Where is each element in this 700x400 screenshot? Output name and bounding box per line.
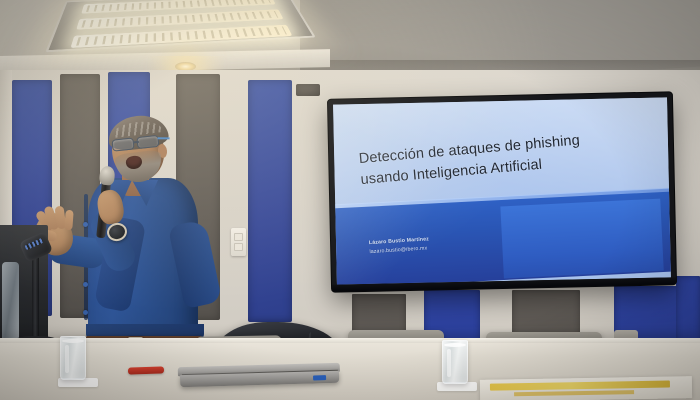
water-glass-left[interactable] [60,336,86,380]
presenter [40,118,220,368]
red-marker[interactable] [128,366,164,374]
finger-4 [64,210,73,231]
conference-room-photo: Detección de ataques de phishing usando … [0,0,700,400]
microphone-head [99,165,116,185]
wall-television[interactable]: Detección de ataques de phishing usando … [328,92,676,291]
papers-stack[interactable] [480,376,692,400]
water-glass-right[interactable] [442,340,468,384]
glasses-temple [158,137,170,139]
acoustic-panel-upper-gray-5 [296,84,320,96]
switch-rocker-top[interactable] [234,233,243,241]
papers-highlight-band-2 [514,390,634,396]
microphone-stand-pole [32,250,39,342]
laptop-port [313,375,326,380]
papers-highlight-band [490,381,670,391]
tv-screen: Detección de ataques de phishing usando … [333,97,671,284]
glasses-lens-right [136,135,159,149]
light-switch-plate[interactable] [231,228,246,256]
presentation-slide: Detección de ataques de phishing usando … [333,97,671,284]
laptop[interactable] [178,363,341,390]
switch-rocker-bottom[interactable] [234,243,243,251]
glasses-lens-left [111,137,134,151]
table-front-edge [0,338,700,343]
water-bottle[interactable] [2,262,19,348]
acoustic-panel-upper-blue-4 [248,80,292,322]
